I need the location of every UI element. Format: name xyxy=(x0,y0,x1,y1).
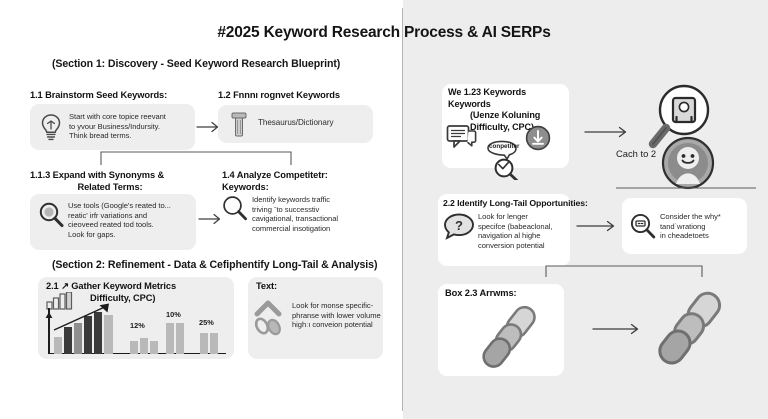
infographic-canvas: #2025 Keyword Research Process & AI SERP… xyxy=(0,0,768,419)
section-1-heading: (Section 1: Discovery - Seed Keyword Res… xyxy=(52,58,340,70)
trend-arrow-icon xyxy=(53,302,115,337)
arrow-2-2-to-target xyxy=(576,219,620,233)
arrow-caption-cach-to-2: Cach to 2 xyxy=(616,148,656,159)
step-1-1-body: Start with core topice reevant to yvour … xyxy=(69,112,189,141)
text-box-title: Text: xyxy=(256,281,277,293)
arrow-right-2-1 xyxy=(584,125,632,139)
connector-row1-to-row2 xyxy=(100,150,292,171)
section-2-heading: (Section 2: Refinement - Data & Cefiphen… xyxy=(52,259,377,271)
bar xyxy=(210,333,218,354)
chart-label-25: 25% xyxy=(199,318,214,327)
panel-divider xyxy=(402,8,403,411)
page-title: #2025 Keyword Research Process & AI SERP… xyxy=(0,24,768,42)
magnifier-icon xyxy=(36,200,66,230)
right-step-2-3-title: Box 2.3 Arrwms: xyxy=(445,288,517,300)
lightbulb-icon xyxy=(38,112,64,142)
bar xyxy=(150,341,158,354)
step-1-1-3-title: 1.1.3 Expand with Synonyms & Related Ter… xyxy=(30,170,190,193)
competitor-bubble-label: conpetiter xyxy=(489,143,519,150)
arrow-2-3-to-target xyxy=(592,322,644,336)
step-1-4-title: 1.4 Analyze Competitetr: Keywords: xyxy=(222,170,382,193)
thesaurus-book-icon xyxy=(228,110,250,140)
svg-text:?: ? xyxy=(455,218,463,233)
right-step-2-2-target-body: Consider the why* tand`wrationg in chead… xyxy=(660,212,746,241)
right-step-2-2-body: Look for lenger specifce (babeaclonal, n… xyxy=(478,212,570,250)
bar xyxy=(200,333,208,354)
chain-link-icon xyxy=(478,305,554,377)
question-bubble-icon: ? xyxy=(443,212,475,242)
bar xyxy=(130,341,138,354)
right-step-2-2-title: 2.2 Identify Long-Tail Opportunities: xyxy=(443,198,588,210)
bar xyxy=(166,323,174,354)
chain-link-icon xyxy=(650,290,742,376)
step-1-1-title: 1.1 Brainstorm Seed Keywords: xyxy=(30,90,167,102)
chart-label-10: 10% xyxy=(166,310,181,319)
connector-2-2-to-2-3 xyxy=(545,264,703,283)
magnifier-icon xyxy=(220,194,250,224)
bar xyxy=(54,337,62,354)
bar xyxy=(140,338,148,354)
chart-label-12: 12% xyxy=(130,321,145,330)
connector-right-top xyxy=(616,176,756,194)
step-2-1b-body: Look for monse specific- phranse with lo… xyxy=(292,301,384,330)
bar xyxy=(176,323,184,354)
step-1-4-body: Identify keywords traffic triving ˉto su… xyxy=(252,195,382,233)
keyword-metrics-chart: 12% 10% 25% xyxy=(48,304,230,354)
step-1-2-body: Thesaurus/Dictionary xyxy=(258,118,373,128)
step-1-1-3-body: Use tools (Google's reated to... reatic'… xyxy=(68,201,193,239)
step-1-2-title: 1.2 Fnnnı rognvet Keywords xyxy=(218,90,340,102)
magnifier-card-icon xyxy=(628,212,658,242)
chevron-links-icon xyxy=(254,300,288,336)
chat-bubble-icon xyxy=(446,124,478,152)
